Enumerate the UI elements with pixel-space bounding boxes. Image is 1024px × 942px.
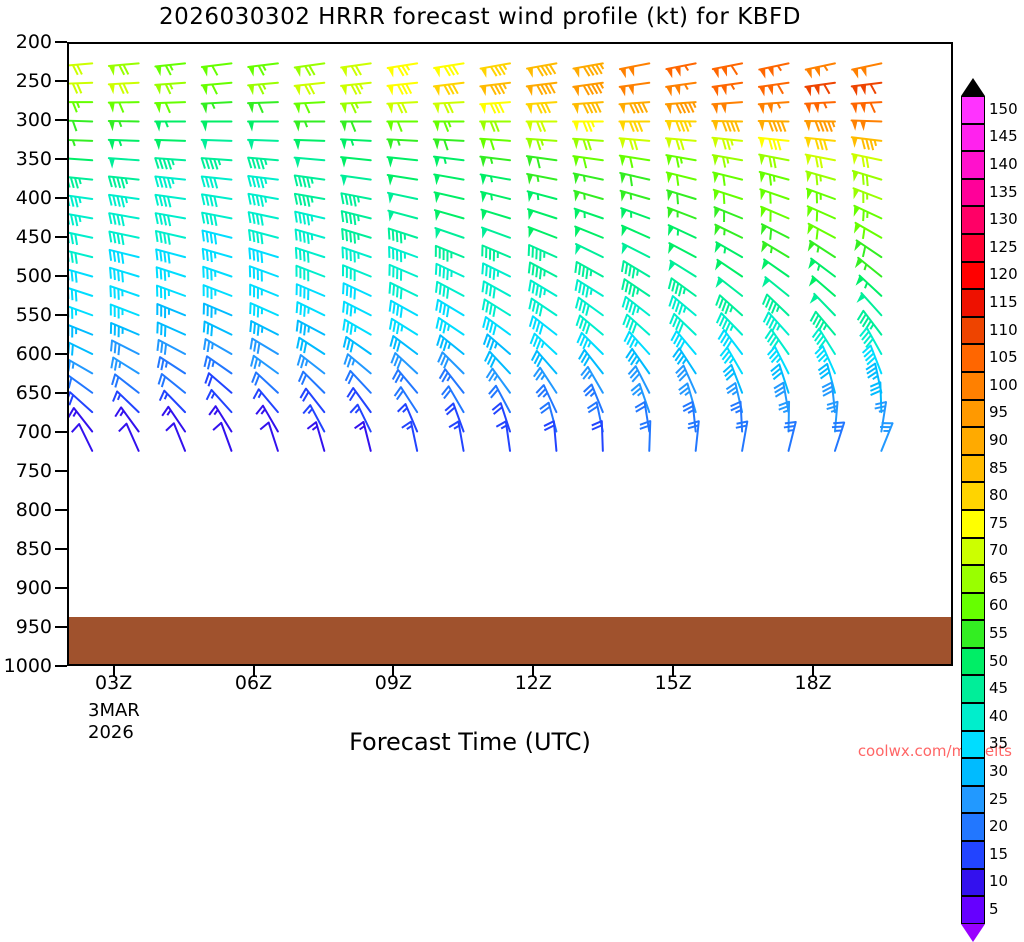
wind-barb (205, 373, 231, 393)
wind-barb (157, 286, 185, 300)
wind-barb (577, 333, 602, 354)
wind-barb (387, 102, 417, 113)
colorbar-cell: 65 (961, 565, 985, 593)
wind-barb (341, 139, 371, 149)
wind-barb (852, 102, 882, 113)
wind-barb (807, 224, 835, 240)
wind-barb (69, 232, 92, 245)
colorbar-cell: 60 (961, 593, 985, 621)
wind-barb (481, 174, 510, 185)
y-tick-label: 900 (0, 577, 52, 599)
wind-barb (576, 280, 603, 297)
wind-barb (714, 207, 742, 222)
y-tick-label: 850 (0, 538, 52, 560)
wind-barb (390, 336, 417, 354)
wind-barb (852, 120, 882, 131)
wind-barb (69, 140, 92, 150)
y-tick-label: 500 (0, 265, 52, 287)
wind-barb (480, 83, 510, 96)
wind-barb (620, 173, 649, 186)
x-tick-mark (672, 666, 674, 677)
wind-barb (157, 267, 185, 280)
wind-barb (712, 121, 742, 132)
wind-barb (576, 298, 603, 316)
wind-barb (806, 155, 835, 169)
wind-barb (440, 369, 464, 392)
wind-barb (480, 102, 510, 114)
colorbar-tick-label: 70 (989, 541, 1008, 559)
wind-barb (854, 206, 882, 221)
wind-barb (109, 195, 139, 207)
wind-barb (389, 283, 417, 299)
wind-barb (481, 63, 510, 77)
wind-barb (341, 193, 370, 206)
wind-barb (527, 83, 557, 96)
wind-barb (573, 139, 603, 150)
wind-barb (640, 421, 650, 451)
y-tick-mark (55, 158, 67, 160)
wind-barb (294, 102, 324, 113)
wind-barb (575, 262, 603, 279)
wind-barb (296, 230, 325, 244)
wind-barb (713, 172, 742, 185)
wind-barb (482, 281, 510, 298)
colorbar-tick-label: 140 (989, 155, 1018, 173)
wind-barb (712, 138, 742, 150)
wind-barb (544, 421, 556, 451)
colorbar-over-arrow (961, 78, 985, 96)
wind-barb (436, 282, 464, 299)
wind-barb (620, 138, 650, 150)
wind-barb (341, 157, 371, 168)
wind-barb (69, 177, 92, 189)
colorbar-cell: 45 (961, 675, 985, 703)
wind-barb (207, 390, 232, 412)
y-tick-mark (55, 236, 67, 238)
colorbar-tick-label: 25 (989, 790, 1008, 808)
wind-barb (202, 213, 231, 226)
wind-barb (388, 63, 417, 77)
wind-barb (736, 422, 747, 451)
y-tick-label: 350 (0, 148, 52, 170)
wind-barb (204, 356, 231, 373)
wind-barb (527, 156, 557, 168)
colorbar-tick-label: 55 (989, 624, 1008, 642)
wind-barb (436, 246, 464, 262)
wind-barb (764, 312, 789, 334)
wind-barb (389, 265, 417, 281)
y-tick-label: 700 (0, 421, 52, 443)
wind-barb (248, 122, 278, 132)
colorbar-tick-label: 95 (989, 403, 1008, 421)
wind-barb (805, 83, 835, 97)
wind-barb (341, 175, 371, 186)
colorbar-tick-label: 35 (989, 735, 1008, 753)
wind-barb (297, 321, 325, 336)
wind-barb (109, 232, 138, 245)
wind-barb (532, 351, 557, 373)
wind-barb (387, 157, 417, 168)
wind-barb (620, 83, 650, 97)
y-tick-mark (55, 392, 67, 394)
wind-barb (112, 374, 139, 392)
wind-barb (109, 102, 139, 113)
wind-barb (854, 223, 881, 239)
wind-barb (574, 191, 603, 202)
wind-barb (857, 293, 882, 315)
colorbar-cell: 120 (961, 262, 985, 290)
wind-barb (342, 247, 370, 262)
wind-barb (69, 375, 92, 393)
wind-barb (111, 323, 139, 337)
wind-barb (573, 156, 603, 168)
wind-barb (527, 122, 557, 132)
wind-barb (529, 281, 556, 298)
wind-barb (295, 194, 324, 207)
wind-barb (109, 83, 139, 94)
wind-barb (714, 190, 742, 204)
wind-barb (202, 83, 232, 95)
wind-barb (667, 190, 696, 204)
wind-barb (344, 337, 371, 354)
colorbar-cell: 80 (961, 482, 985, 510)
wind-barb (295, 63, 325, 77)
wind-barb (481, 210, 510, 221)
wind-barb (69, 83, 92, 94)
colorbar-tick-label: 120 (989, 265, 1018, 283)
colorbar-tick-label: 110 (989, 321, 1018, 339)
wind-barb (69, 63, 92, 75)
wind-barb (482, 245, 510, 261)
wind-barb (387, 83, 417, 96)
wind-barb (853, 171, 882, 186)
wind-barb (346, 371, 371, 393)
wind-barb (784, 422, 796, 451)
wind-barb (759, 63, 788, 78)
wind-barb (666, 83, 696, 97)
wind-barb (762, 259, 789, 276)
wind-barb (485, 352, 510, 374)
wind-barb (759, 138, 789, 150)
wind-barb (759, 155, 788, 169)
wind-barb (667, 172, 696, 185)
wind-barb (852, 63, 881, 78)
wind-barb (155, 63, 185, 76)
wind-barb (209, 406, 231, 431)
wind-barb (389, 229, 417, 244)
wind-barb (251, 356, 278, 374)
wind-barb (688, 421, 699, 451)
colorbar-cell: 75 (961, 510, 985, 538)
wind-barb (391, 353, 417, 373)
wind-barb (527, 139, 557, 150)
y-tick-label: 600 (0, 343, 52, 365)
wind-barb (668, 225, 696, 238)
wind-barb (529, 245, 557, 261)
wind-barb-layer (69, 44, 951, 664)
wind-barb (390, 301, 418, 318)
colorbar-tick-label: 60 (989, 597, 1008, 615)
wind-barb (482, 228, 510, 239)
wind-barb (248, 63, 278, 76)
wind-barb (110, 250, 139, 264)
wind-barb (202, 194, 231, 207)
wind-barb (619, 102, 649, 114)
wind-barb (111, 358, 138, 374)
wind-barb (111, 305, 139, 319)
wind-barb (202, 122, 232, 132)
wind-barb (109, 158, 139, 168)
y-tick-mark (55, 665, 67, 667)
y-tick-label: 400 (0, 187, 52, 209)
wind-barb (249, 212, 278, 225)
wind-barb (252, 372, 278, 392)
wind-barb (805, 102, 835, 113)
wind-barb (480, 122, 510, 132)
wind-barb (527, 63, 556, 77)
wind-barb (109, 213, 138, 226)
colorbar-tick-label: 145 (989, 127, 1018, 145)
wind-barb (483, 299, 510, 316)
wind-barb (155, 140, 185, 150)
colorbar-cell: 125 (961, 234, 985, 262)
wind-barb (341, 83, 371, 96)
wind-barb (715, 260, 742, 277)
wind-barb (109, 121, 139, 131)
colorbar-tick-label: 20 (989, 817, 1008, 835)
y-tick-mark (55, 80, 67, 82)
colorbar: 1501451401351301251201151101051009590858… (961, 96, 985, 924)
colorbar-cell: 40 (961, 703, 985, 731)
wind-barb (853, 188, 881, 203)
wind-barb (109, 63, 139, 75)
wind-barb (575, 244, 603, 257)
wind-barb (295, 175, 325, 187)
wind-barb (393, 370, 417, 393)
wind-barb (69, 158, 92, 168)
wind-barb (434, 174, 463, 185)
wind-barb (155, 158, 185, 169)
y-tick-mark (55, 509, 67, 511)
wind-barb (666, 102, 696, 114)
wind-barb (670, 314, 696, 335)
y-tick-label: 800 (0, 499, 52, 521)
colorbar-cell: 25 (961, 786, 985, 814)
wind-barb (622, 226, 650, 238)
wind-barb (434, 83, 464, 96)
wind-barb (158, 357, 185, 373)
wind-barb (438, 352, 463, 373)
y-tick-mark (55, 275, 67, 277)
wind-barb (297, 284, 325, 300)
x-tick-mark (532, 666, 534, 677)
y-tick-label: 450 (0, 226, 52, 248)
wind-barb (622, 279, 649, 297)
wind-barb (248, 83, 278, 95)
colorbar-tick-label: 15 (989, 845, 1008, 863)
wind-barb (854, 240, 881, 257)
wind-barb (620, 156, 649, 168)
wind-barb (203, 249, 232, 262)
y-tick-mark (55, 353, 67, 355)
wind-barb (808, 241, 835, 257)
wind-barb (623, 315, 649, 335)
wind-barb (624, 332, 649, 354)
wind-barb (762, 277, 788, 296)
wind-barb (296, 266, 324, 281)
wind-barb (761, 242, 788, 257)
wind-barb (760, 189, 788, 203)
wind-barb (341, 102, 371, 113)
wind-barb (115, 407, 138, 431)
wind-barb (579, 350, 603, 373)
wind-barb (480, 139, 510, 150)
wind-barb (480, 157, 510, 168)
wind-barb (574, 173, 603, 184)
wind-barb (202, 158, 232, 169)
wind-barb (251, 339, 278, 354)
date-line-1: 3MAR (88, 700, 140, 722)
wind-barb (156, 249, 185, 263)
wind-barb (620, 63, 649, 78)
wind-barb (202, 63, 232, 76)
wind-barb (808, 259, 835, 277)
wind-barb (69, 323, 92, 337)
y-tick-mark (55, 119, 67, 121)
colorbar-cell: 85 (961, 455, 985, 483)
colorbar-cell: 145 (961, 124, 985, 152)
y-tick-label: 550 (0, 304, 52, 326)
x-tick-mark (392, 666, 394, 677)
colorbar-tick-label: 105 (989, 348, 1018, 366)
wind-barb (155, 83, 185, 95)
wind-barb (481, 192, 510, 203)
wind-barb (811, 312, 835, 335)
wind-barb (852, 137, 882, 150)
wind-barb (761, 224, 789, 240)
wind-barb (573, 122, 603, 132)
wind-barb (298, 355, 325, 373)
wind-barb (434, 139, 464, 150)
wind-barb (162, 407, 185, 432)
wind-barb (202, 102, 232, 113)
wind-profile-chart: 2026030302 HRRR forecast wind profile (k… (0, 0, 1024, 768)
wind-barb (528, 191, 557, 202)
wind-barb (248, 194, 277, 207)
wind-barb (203, 267, 231, 281)
colorbar-tick-label: 90 (989, 431, 1008, 449)
wind-barb (666, 155, 695, 168)
colorbar-tick-label: 100 (989, 376, 1018, 394)
wind-barb (484, 334, 510, 354)
wind-barb (622, 244, 650, 258)
wind-barb (434, 63, 463, 77)
wind-barb (202, 231, 231, 245)
colorbar-cell: 95 (961, 400, 985, 428)
colorbar-cell: 10 (961, 869, 985, 897)
colorbar-tick-label: 75 (989, 514, 1008, 532)
colorbar-under-arrow (961, 924, 985, 942)
y-tick-mark (55, 470, 67, 472)
wind-barb (69, 268, 92, 282)
wind-barb (669, 278, 696, 296)
wind-barb (434, 122, 464, 132)
wind-barb (388, 193, 417, 204)
wind-barb (155, 122, 185, 132)
y-tick-mark (55, 197, 67, 199)
colorbar-tick-label: 115 (989, 293, 1018, 311)
wind-barb (717, 313, 742, 334)
wind-barb (716, 295, 742, 315)
wind-barb (668, 243, 696, 257)
wind-barb (155, 195, 185, 207)
wind-barb (294, 122, 324, 132)
colorbar-tick-label: 30 (989, 762, 1008, 780)
wind-barb (387, 122, 417, 132)
wind-barb (159, 374, 185, 393)
wind-barb (880, 423, 893, 451)
wind-barb (621, 208, 649, 219)
wind-barb (666, 63, 695, 78)
wind-barb (299, 372, 324, 393)
wind-barb (204, 322, 232, 337)
wind-barb (621, 191, 650, 202)
wind-barb (435, 228, 463, 239)
wind-barb (69, 195, 92, 207)
wind-barb (807, 189, 835, 203)
wind-barb (714, 225, 742, 238)
colorbar-tick-label: 125 (989, 238, 1018, 256)
wind-barb (295, 212, 324, 226)
colorbar-cell: 15 (961, 841, 985, 869)
wind-barb (342, 211, 371, 225)
wind-barb (110, 286, 138, 300)
y-tick-mark (55, 314, 67, 316)
wind-barb (294, 140, 324, 150)
wind-barb (529, 263, 557, 280)
colorbar-cell: 50 (961, 648, 985, 676)
wind-barb (202, 177, 232, 189)
wind-barb (69, 305, 92, 319)
wind-barb (109, 140, 139, 150)
wind-barb (155, 102, 185, 113)
chart-title: 2026030302 HRRR forecast wind profile (k… (0, 4, 960, 30)
wind-barb (157, 304, 185, 318)
wind-barb (113, 391, 139, 412)
wind-barb (806, 171, 835, 185)
wind-barb (69, 250, 92, 264)
wind-barb (759, 102, 789, 114)
y-tick-mark (55, 626, 67, 628)
colorbar-cell: 70 (961, 538, 985, 566)
wind-barb (155, 177, 185, 189)
wind-barb (671, 331, 695, 354)
wind-barb (712, 102, 742, 114)
wind-barb (343, 320, 370, 335)
wind-barb (296, 248, 324, 263)
wind-barb (619, 122, 649, 132)
plot-area (67, 42, 953, 666)
wind-barb (436, 300, 463, 317)
wind-barb (760, 172, 789, 186)
colorbar-tick-label: 40 (989, 707, 1008, 725)
wind-barb (528, 209, 556, 220)
wind-barb (204, 285, 232, 299)
wind-barb (157, 340, 185, 355)
wind-barb (341, 122, 371, 132)
wind-barb (483, 317, 510, 335)
wind-barb (437, 335, 463, 354)
